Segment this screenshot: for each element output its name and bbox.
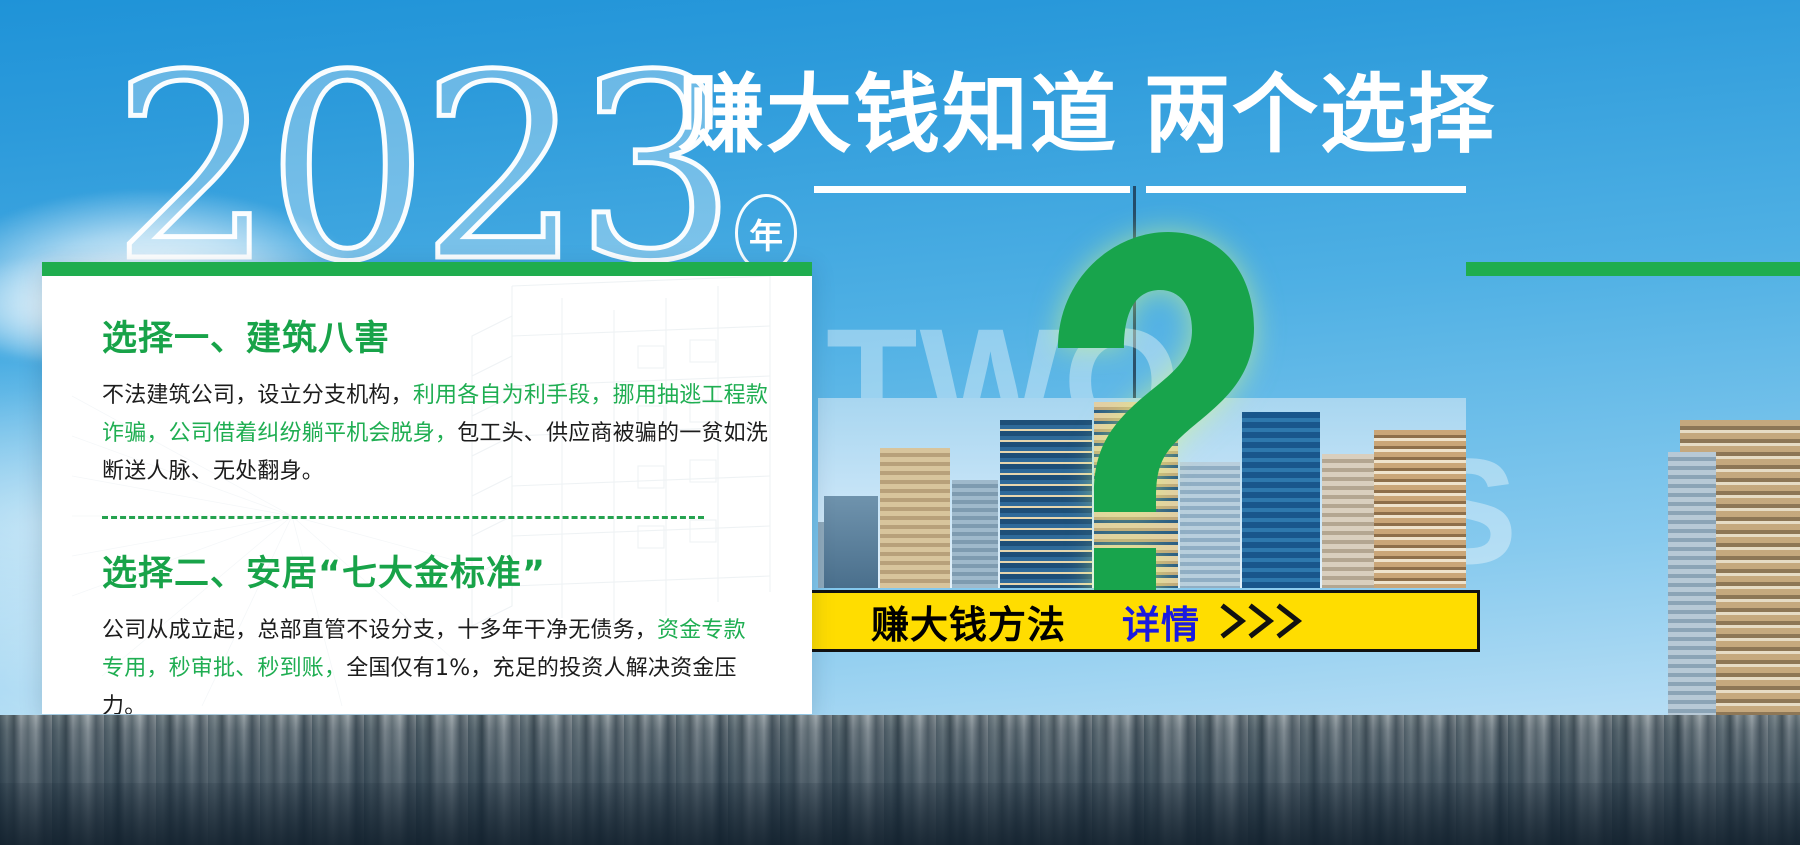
cta-detail-label: 详情 bbox=[1122, 594, 1200, 649]
section-1-body: 不法建筑公司，设立分支机构，利用各自为利手段，挪用抽逃工程款诈骗，公司借着纠纷躺… bbox=[102, 377, 768, 490]
headline-rule-right bbox=[1146, 186, 1466, 193]
bottom-cityscape-strip bbox=[0, 715, 1800, 845]
cta-button[interactable]: 赚大钱方法 详情 bbox=[806, 590, 1480, 652]
section-2-body: 公司从成立起，总部直管不设分支，十多年干净无债务，资金专款专用，秒审批、秒到账，… bbox=[102, 612, 768, 714]
chevrons-right-icon bbox=[1218, 601, 1314, 641]
section-1-title: 选择一、建筑八害 bbox=[102, 310, 768, 361]
section-1-run-0: 不法建筑公司，设立分支机构， bbox=[102, 383, 413, 408]
headline-part-right: 两个选择 bbox=[1144, 65, 1496, 165]
headline-rule-left bbox=[814, 186, 1130, 193]
page-title: 赚大钱知道两个选择 bbox=[678, 72, 1496, 158]
cta-main-label: 赚大钱方法 bbox=[871, 594, 1066, 649]
city-skyline-photo bbox=[818, 398, 1466, 588]
section-2-run-0: 公司从成立起，总部直管不设分支，十多年干净无债务， bbox=[102, 618, 657, 643]
headline-part-left: 赚大钱知道 bbox=[678, 65, 1118, 165]
promo-banner: 2023 年 赚大钱知道两个选择 TWO CHOICES 赚大钱方法 详情 bbox=[0, 0, 1800, 845]
right-edge-building-photo-secondary bbox=[1668, 452, 1716, 715]
content-card: 选择一、建筑八害 不法建筑公司，设立分支机构，利用各自为利手段，挪用抽逃工程款诈… bbox=[42, 262, 812, 714]
strip-reflection bbox=[0, 715, 1800, 845]
right-green-accent-bar bbox=[1466, 262, 1800, 276]
section-divider bbox=[102, 516, 704, 519]
section-2-title: 选择二、安居“七大金标准” bbox=[102, 545, 768, 596]
